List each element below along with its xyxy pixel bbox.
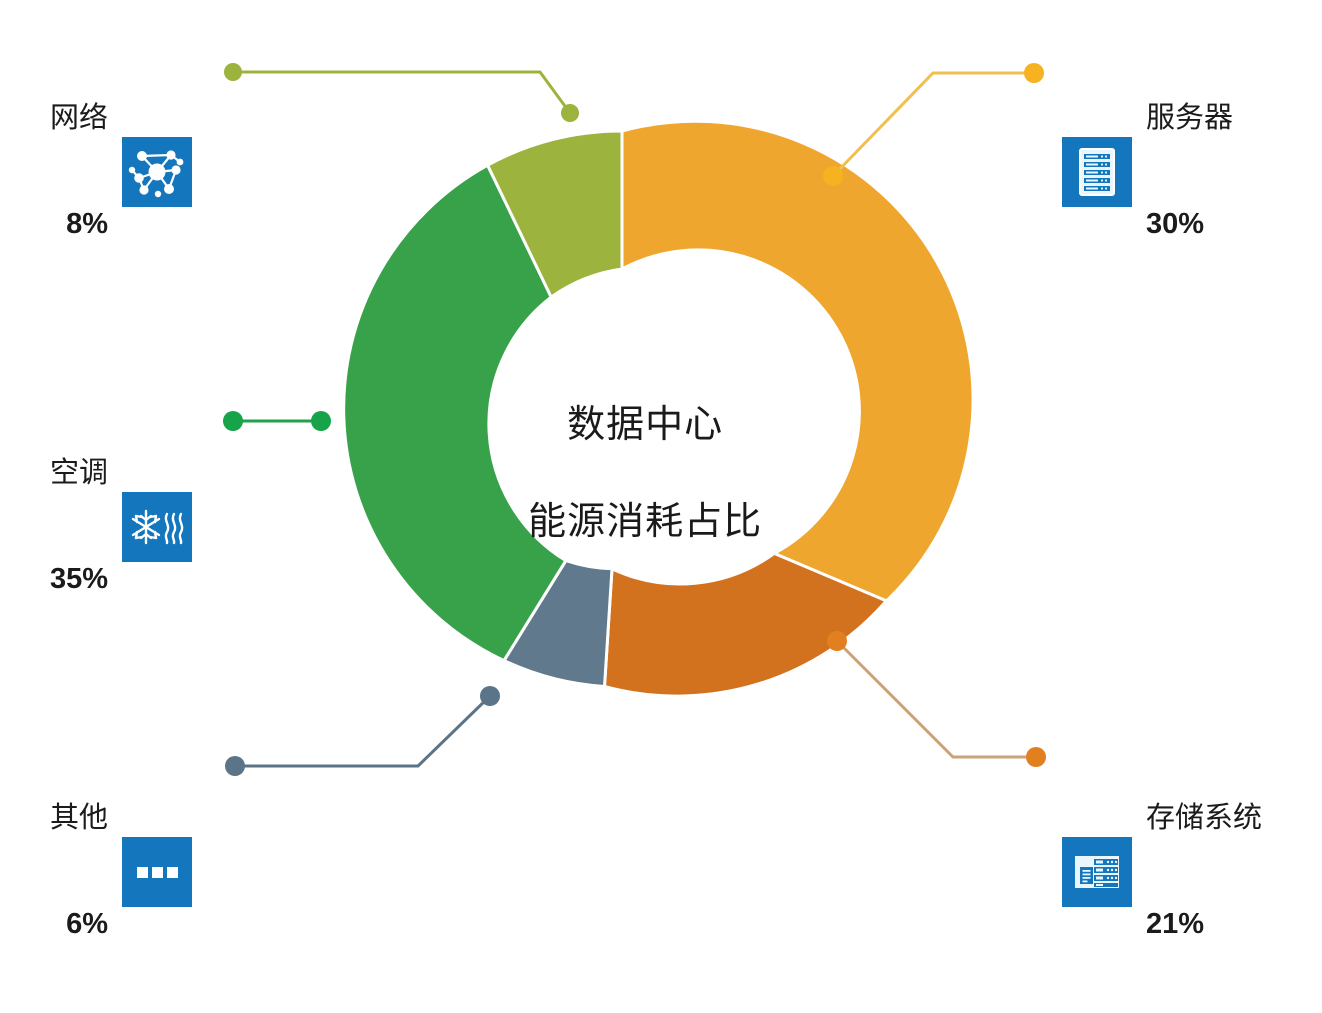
legend-percent-server: 30% (1146, 207, 1233, 242)
server-rack-icon (1062, 137, 1132, 207)
legend-name-server: 服务器 (1146, 101, 1233, 136)
legend-text-storage: 存储系统 21% (1146, 730, 1262, 1013)
network-nodes-icon (122, 137, 192, 207)
legend-text-server: 服务器 30% (1146, 30, 1233, 313)
legend-name-other: 其他 (50, 801, 108, 836)
legend-text-network: 网络 8% (50, 30, 108, 313)
legend-item-storage[interactable]: 存储系统 21% (1062, 730, 1262, 1013)
infographic-canvas: 数据中心 能源消耗占比 (0, 0, 1322, 833)
legend-percent-network: 8% (50, 207, 108, 242)
ellipsis-dots-icon (122, 837, 192, 907)
legend-text-ac: 空调 35% (50, 385, 108, 668)
legend-item-ac[interactable]: 空调 35% (50, 385, 192, 668)
legend-percent-storage: 21% (1146, 907, 1262, 942)
slice-server[interactable] (622, 121, 973, 601)
legend-text-other: 其他 6% (50, 730, 108, 1013)
legend-item-network[interactable]: 网络 8% (50, 30, 192, 313)
legend-name-storage: 存储系统 (1146, 801, 1262, 836)
legend-percent-other: 6% (50, 907, 108, 942)
snowflake-airflow-icon (122, 492, 192, 562)
storage-array-icon (1062, 837, 1132, 907)
legend-name-network: 网络 (50, 101, 108, 136)
donut-slices (344, 121, 973, 696)
legend-item-other[interactable]: 其他 6% (50, 730, 192, 1013)
legend-name-ac: 空调 (50, 456, 108, 491)
legend-percent-ac: 35% (50, 562, 108, 597)
legend-item-server[interactable]: 服务器 30% (1062, 30, 1233, 313)
